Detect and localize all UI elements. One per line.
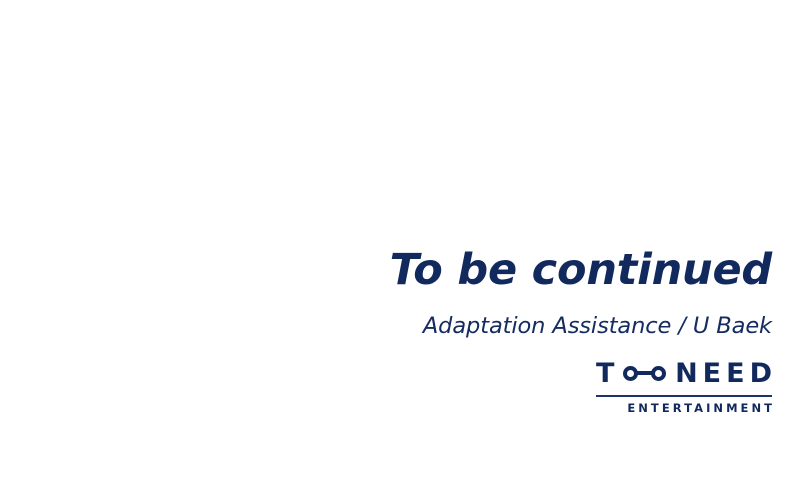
logo-divider-rule (596, 395, 772, 397)
ring-left-icon (623, 366, 638, 381)
double-o-dumbbell-icon (623, 360, 666, 387)
ring-right-icon (651, 366, 666, 381)
logo-letter-e1: E (703, 360, 721, 387)
page-title: To be continued (390, 246, 772, 294)
logo-letter-e2: E (726, 360, 744, 387)
tooneed-logo: T N E E D ENTERTAINMENT (596, 358, 772, 415)
end-card-content: To be continued Adaptation Assistance / … (252, 0, 772, 494)
connector-bar (637, 371, 652, 375)
credit-line: Adaptation Assistance / U Baek (423, 312, 772, 340)
logo-wordmark: T N E E D (596, 358, 772, 388)
logo-tagline: ENTERTAINMENT (596, 402, 775, 415)
end-card-slide: { "slide": { "background_color": "#fffff… (0, 0, 800, 494)
logo-letter-t: T (596, 360, 614, 387)
logo-letter-n: N (675, 360, 698, 387)
logo-letter-d: D (750, 360, 772, 387)
